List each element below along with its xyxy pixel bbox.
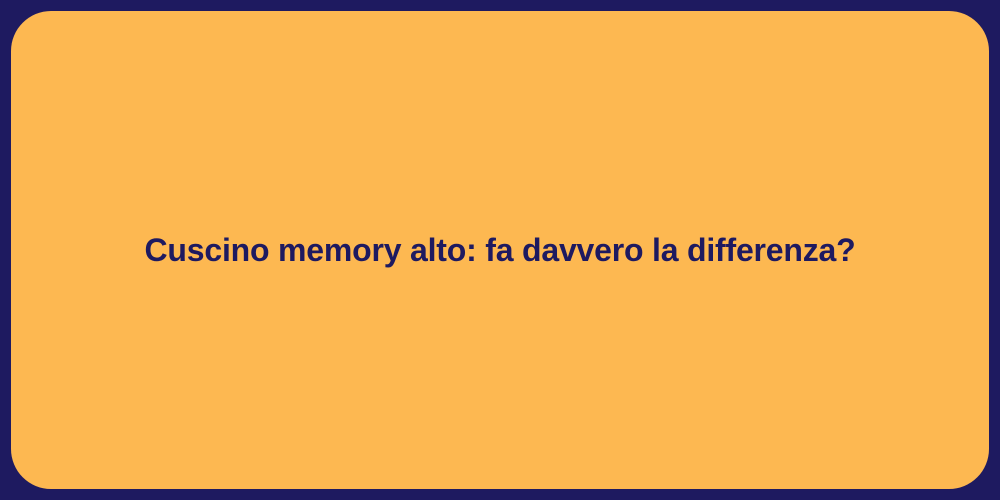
banner-root: Cuscino memory alto: fa davvero la diffe… — [0, 0, 1000, 500]
banner-card: Cuscino memory alto: fa davvero la diffe… — [11, 11, 989, 489]
headline-container: Cuscino memory alto: fa davvero la diffe… — [11, 230, 989, 270]
banner-headline: Cuscino memory alto: fa davvero la diffe… — [145, 230, 856, 270]
